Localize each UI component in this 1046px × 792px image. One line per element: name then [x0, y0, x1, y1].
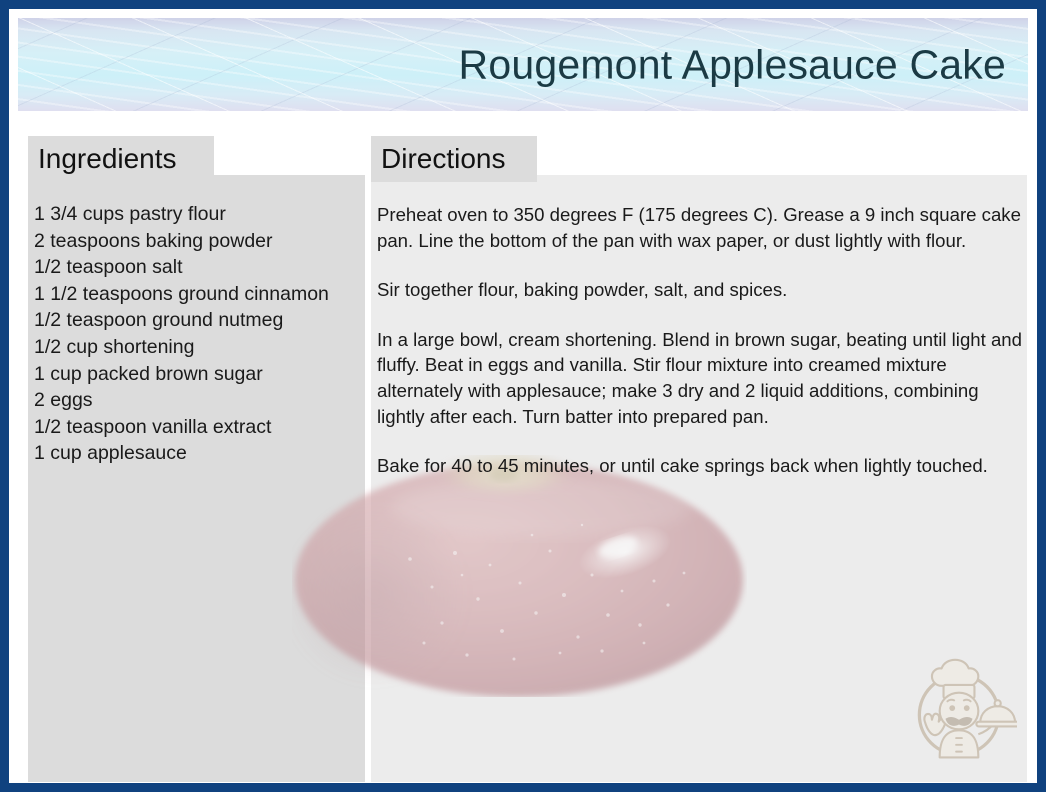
title-banner: Rougemont Applesauce Cake [18, 18, 1028, 111]
ingredients-list: 1 3/4 cups pastry flour 2 teaspoons baki… [34, 201, 364, 467]
list-item: 1/2 teaspoon salt [34, 254, 364, 281]
list-item: 1/2 cup shortening [34, 334, 364, 361]
slide-canvas: Rougemont Applesauce Cake Ingredients 1 … [9, 9, 1037, 783]
list-item: 1 3/4 cups pastry flour [34, 201, 364, 228]
direction-step: Sir together flour, baking powder, salt,… [377, 277, 1022, 303]
list-item: 2 eggs [34, 387, 364, 414]
list-item: 1 cup applesauce [34, 440, 364, 467]
page-title: Rougemont Applesauce Cake [459, 41, 1006, 88]
list-item: 1/2 teaspoon vanilla extract [34, 414, 364, 441]
directions-body: Preheat oven to 350 degrees F (175 degre… [377, 202, 1022, 479]
recipe-slide: Rougemont Applesauce Cake Ingredients 1 … [0, 0, 1046, 792]
list-item: 1 1/2 teaspoons ground cinnamon [34, 281, 364, 308]
ingredients-heading: Ingredients [28, 136, 214, 182]
list-item: 2 teaspoons baking powder [34, 228, 364, 255]
list-item: 1 cup packed brown sugar [34, 361, 364, 388]
direction-step: In a large bowl, cream shortening. Blend… [377, 327, 1022, 429]
directions-heading: Directions [371, 136, 537, 182]
direction-step: Preheat oven to 350 degrees F (175 degre… [377, 202, 1022, 253]
list-item: 1/2 teaspoon ground nutmeg [34, 307, 364, 334]
direction-step: Bake for 40 to 45 minutes, or until cake… [377, 453, 1022, 479]
